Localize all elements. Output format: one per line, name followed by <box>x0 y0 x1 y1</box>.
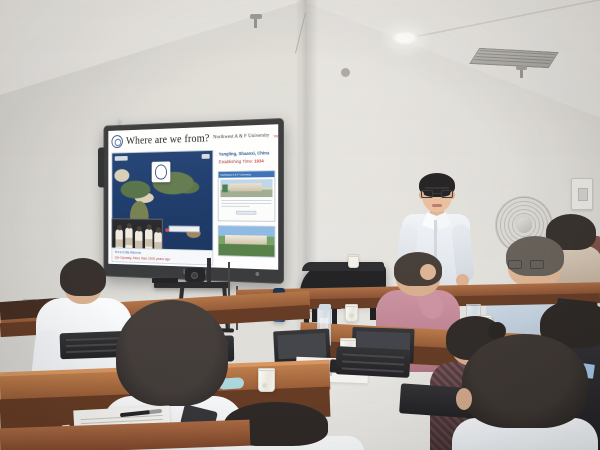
slide-info-column: Yangling, Shaanxi, China Establishing Ti… <box>217 148 276 268</box>
slide-title: Where are we from? <box>126 132 209 146</box>
wall-control-panel[interactable] <box>571 178 593 210</box>
audience-hand <box>420 264 436 280</box>
audience-hair <box>60 258 106 296</box>
chair[interactable] <box>335 346 410 378</box>
map-emblem-marker <box>152 161 171 182</box>
presenter-brow <box>425 187 449 189</box>
slide-card-landscape <box>218 225 276 258</box>
card-text-lines <box>219 199 275 210</box>
projector-mount-icon <box>516 66 527 70</box>
stand-equipment-box <box>152 278 178 283</box>
slide-body: Yangling, Shaanxi, China Establishing Ti… <box>108 147 278 270</box>
display-screen[interactable]: Where are we from? Northwest A & F Unive… <box>108 124 278 270</box>
established-label: Establishing Time: <box>219 159 253 165</box>
card-header-bar: Northwest A & F University <box>219 171 275 178</box>
conference-camera[interactable] <box>185 268 205 282</box>
display-side-panel <box>98 147 104 187</box>
slide-tagline: Yangling <box>273 133 278 137</box>
seminar-room-photo: Where are we from? Northwest A & F Unive… <box>0 0 600 450</box>
slide-card-university: Northwest A & F University <box>218 170 276 222</box>
display-power-led <box>255 272 259 276</box>
audience-member-foreground-right <box>448 334 598 450</box>
piano-lid <box>302 262 384 271</box>
ceiling-hook-icon <box>341 68 350 77</box>
university-crest-icon <box>112 135 123 148</box>
presentation-slide: Where are we from? Northwest A & F Unive… <box>108 124 278 270</box>
projector-mount-icon <box>250 14 262 19</box>
audience-hair <box>506 236 564 276</box>
map-badge-map <box>202 154 210 159</box>
audience-hair <box>116 300 228 406</box>
slide-subtitle: Northwest A & F University <box>213 133 269 142</box>
slide-established-text: Establishing Time: 1934 <box>219 158 277 164</box>
presenter-mouth <box>432 204 442 207</box>
fan-hub <box>516 217 532 233</box>
eyeglasses-icon <box>508 260 544 269</box>
paper-cup[interactable] <box>258 369 275 392</box>
paper-cup <box>348 255 359 268</box>
card-campus-photo <box>220 179 272 197</box>
audience-hair <box>462 334 588 428</box>
ceiling-light-icon <box>392 32 418 45</box>
map-pin-label <box>169 225 200 232</box>
established-year: 1934 <box>254 158 264 163</box>
audience-ear <box>456 388 472 410</box>
map-badge-satellite <box>115 156 128 161</box>
slide-location-text: Yangling, Shaanxi, China <box>219 150 277 156</box>
eyeglasses-icon <box>421 190 453 198</box>
card-more-button[interactable] <box>236 210 256 214</box>
card-header-text: Northwest A & F University <box>220 172 250 176</box>
paper-cup[interactable] <box>345 305 358 322</box>
